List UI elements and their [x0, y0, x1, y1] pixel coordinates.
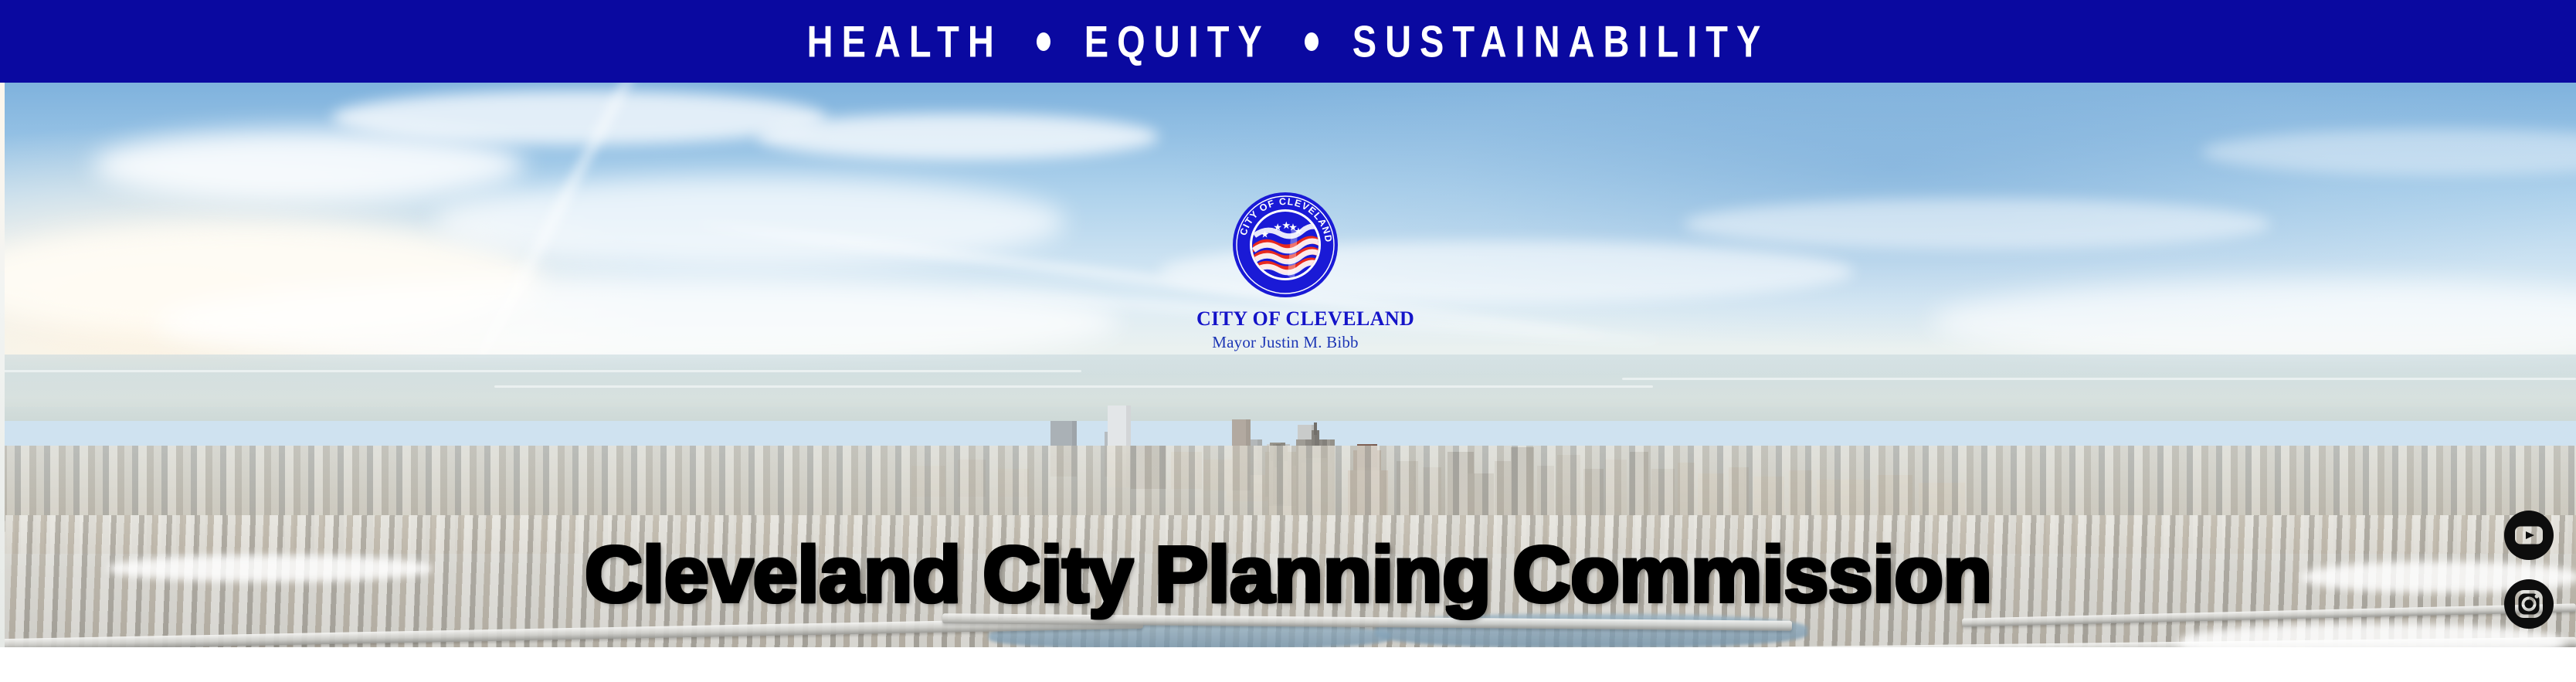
city-of-cleveland-seal-icon: CITY OF CLEVELAND OHIO: [1231, 191, 1339, 299]
banner-word-sustainability: SUSTAINABILITY: [1352, 19, 1770, 63]
dot-separator-icon: [1305, 32, 1319, 51]
page-root: HEALTH EQUITY SUSTAINABILITY: [0, 0, 2576, 682]
bottom-white-strip: [0, 647, 2576, 682]
dot-separator-icon: [1037, 32, 1050, 51]
seal-org-name: CITY OF CLEVELAND: [1196, 308, 1374, 329]
page-title: Cleveland City Planning Commission: [0, 534, 2576, 614]
youtube-icon[interactable]: [2503, 510, 2554, 561]
social-links-rail: [2503, 510, 2554, 647]
banner-word-equity: EQUITY: [1084, 19, 1271, 63]
instagram-icon[interactable]: [2503, 579, 2554, 629]
top-tagline-banner: HEALTH EQUITY SUSTAINABILITY: [0, 0, 2576, 83]
city-seal-block: CITY OF CLEVELAND OHIO CITY OF CLEVELAND…: [1196, 191, 1374, 352]
seal-mayor-line: Mayor Justin M. Bibb: [1196, 333, 1374, 352]
hero-photo: CITY OF CLEVELAND OHIO CITY OF CLEVELAND…: [0, 83, 2576, 647]
banner-inner: HEALTH EQUITY SUSTAINABILITY: [807, 23, 1770, 59]
banner-word-health: HEALTH: [807, 19, 1003, 63]
